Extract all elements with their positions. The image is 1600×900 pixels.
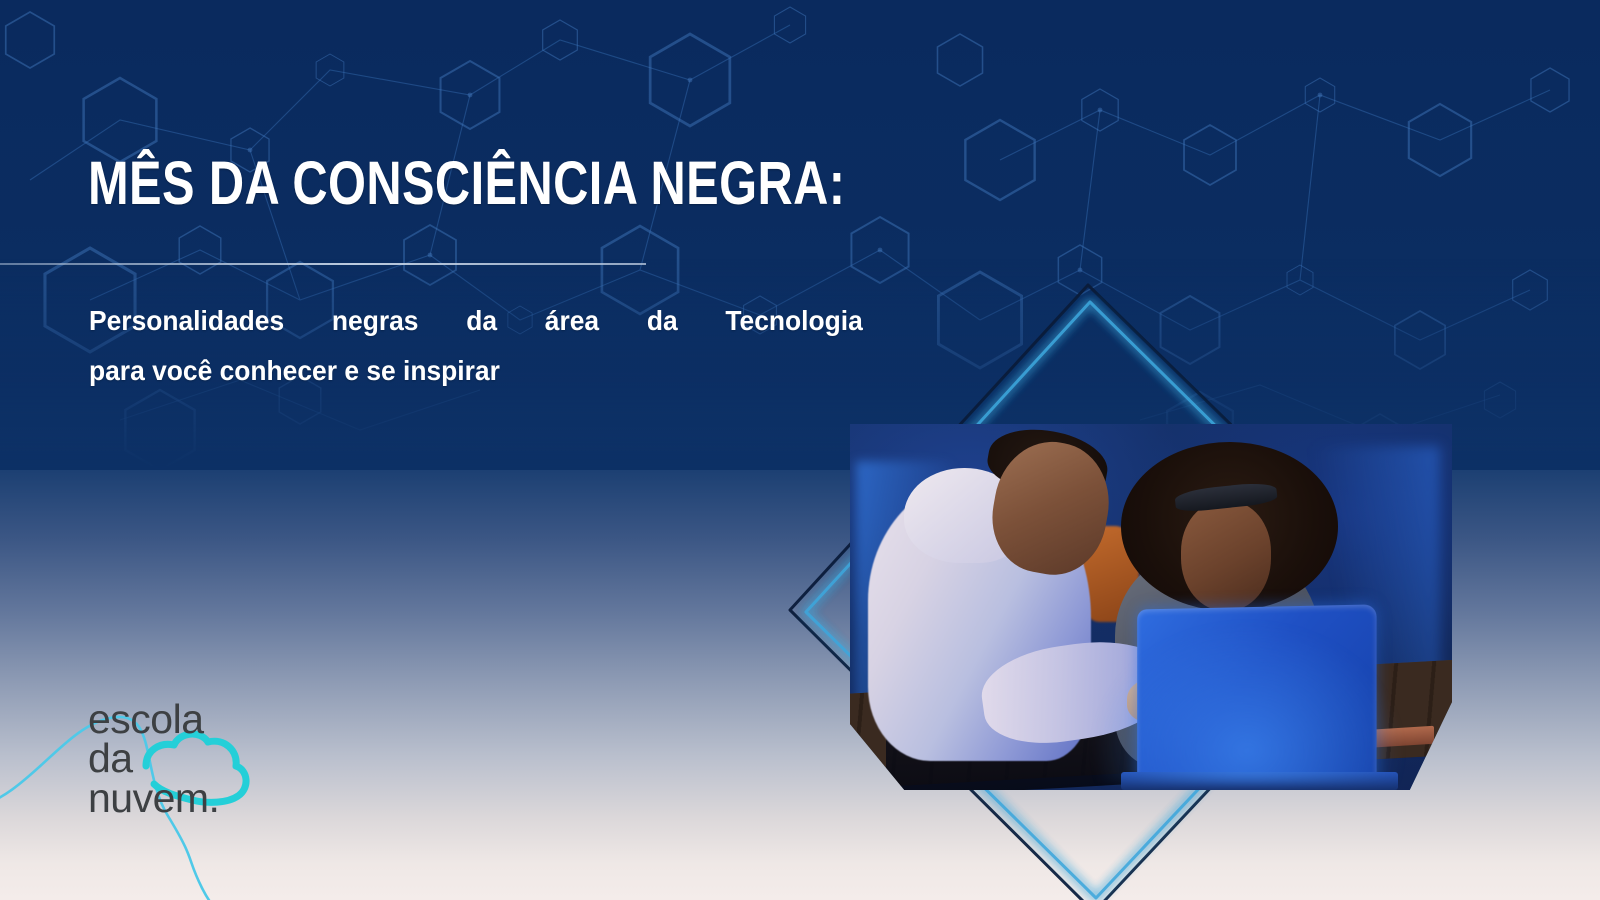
logo-line-escola: escola (88, 700, 219, 739)
hexagon-pattern-background (0, 0, 1600, 470)
logo-line-nuvem: nuvem. (88, 779, 219, 818)
page-title: MÊS DA CONSCIÊNCIA NEGRA: (88, 153, 845, 214)
brand-logo[interactable]: escola da nuvem. (88, 700, 278, 830)
page-subtitle: Personalidades negras da área da Tecnolo… (89, 296, 863, 395)
brand-logo-text: escola da nuvem. (88, 700, 219, 818)
subtitle-line-2: para você conhecer e se inspirar (89, 346, 863, 396)
photo-scene (850, 424, 1452, 790)
hexagon-pattern-fade (0, 0, 1600, 470)
subtitle-line-1: Personalidades negras da área da Tecnolo… (89, 296, 863, 346)
title-divider (0, 263, 646, 265)
slide-canvas: MÊS DA CONSCIÊNCIA NEGRA: Personalidades… (0, 0, 1600, 900)
logo-line-da: da (88, 739, 219, 778)
hero-photo (850, 424, 1452, 790)
